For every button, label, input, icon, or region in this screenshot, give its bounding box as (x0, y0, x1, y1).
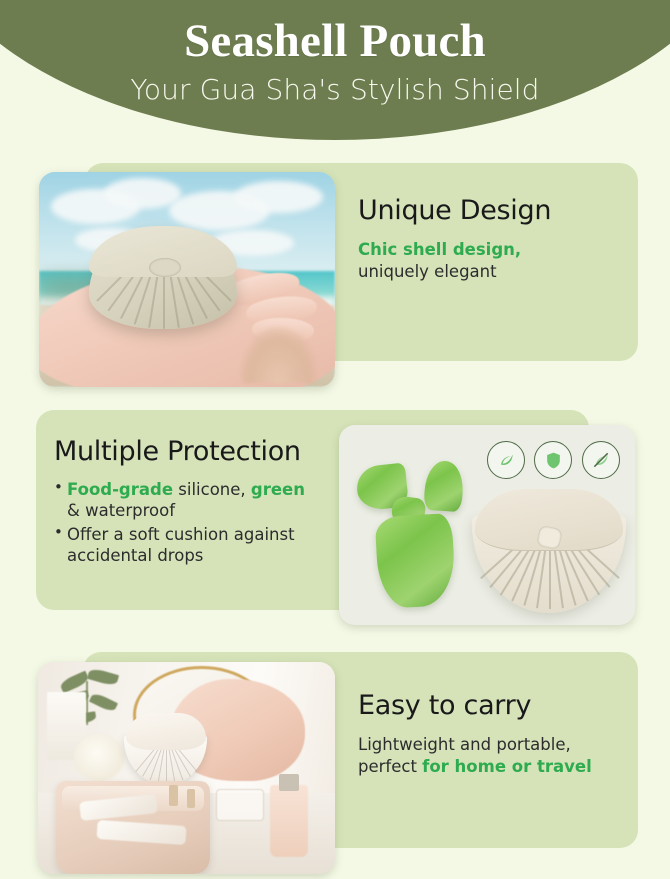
shield-icon (534, 441, 572, 479)
bottle-cap (279, 774, 300, 791)
seashell-pouch (472, 489, 626, 613)
cloud-icon (104, 178, 181, 208)
feature-list: Food-grade silicone, green& waterproof O… (54, 479, 334, 567)
list-item: Food-grade silicone, green& waterproof (54, 479, 334, 522)
section-copy: Easy to carry Lightweight and portable, … (358, 690, 628, 778)
section-heading: Easy to carry (358, 690, 628, 721)
section-body: Lightweight and portable, perfect for ho… (358, 734, 628, 778)
body-text: silicone, (173, 480, 251, 499)
accent-phrase: Food-grade (67, 480, 173, 499)
glass-jar (216, 789, 264, 821)
serum-bottle (270, 785, 309, 857)
product-photo-tools (339, 425, 635, 625)
leaf-icon (86, 667, 118, 687)
accent-phrase: green (251, 480, 305, 499)
page-title: Seashell Pouch (0, 0, 670, 65)
cloud-icon (234, 181, 323, 213)
section-copy: Unique Design Chic shell design, uniquel… (358, 195, 623, 283)
section-multiple-protection: Multiple Protection Food-grade silicone,… (0, 400, 670, 638)
pouch-flap (126, 713, 206, 750)
lipstick-cap (169, 785, 178, 806)
gua-sha-tool (423, 460, 465, 513)
product-photo-beach (39, 172, 335, 387)
header-text-block: Seashell Pouch Your Gua Sha's Stylish Sh… (0, 0, 670, 106)
no-chemicals-icon (582, 441, 620, 479)
section-unique-design: Unique Design Chic shell design, uniquel… (0, 150, 670, 400)
section-body: Chic shell design, uniquely elegant (358, 239, 623, 283)
body-text: Lightweight and portable, (358, 735, 571, 754)
body-text: uniquely elegant (358, 262, 497, 281)
lipstick-cap (187, 789, 196, 808)
leaf-icon (89, 692, 118, 714)
accent-phrase: Chic shell design, (358, 240, 521, 259)
list-item: Offer a soft cushion against accidental … (54, 524, 334, 567)
seashell-pouch (124, 713, 207, 785)
gua-sha-tool (375, 513, 457, 609)
body-text: & waterproof (67, 501, 175, 520)
accent-phrase: for home or travel (422, 757, 592, 776)
page-subtitle: Your Gua Sha's Stylish Shield (0, 65, 670, 106)
section-easy-to-carry: Easy to carry Lightweight and portable, … (0, 638, 670, 878)
body-text: perfect (358, 757, 422, 776)
flower (74, 734, 124, 781)
leaf-icon (487, 441, 525, 479)
product-photo-vanity (38, 662, 335, 874)
page-header: Seashell Pouch Your Gua Sha's Stylish Sh… (0, 0, 670, 150)
section-heading: Unique Design (358, 195, 623, 226)
section-copy: Multiple Protection Food-grade silicone,… (54, 436, 334, 569)
section-heading: Multiple Protection (54, 436, 334, 467)
